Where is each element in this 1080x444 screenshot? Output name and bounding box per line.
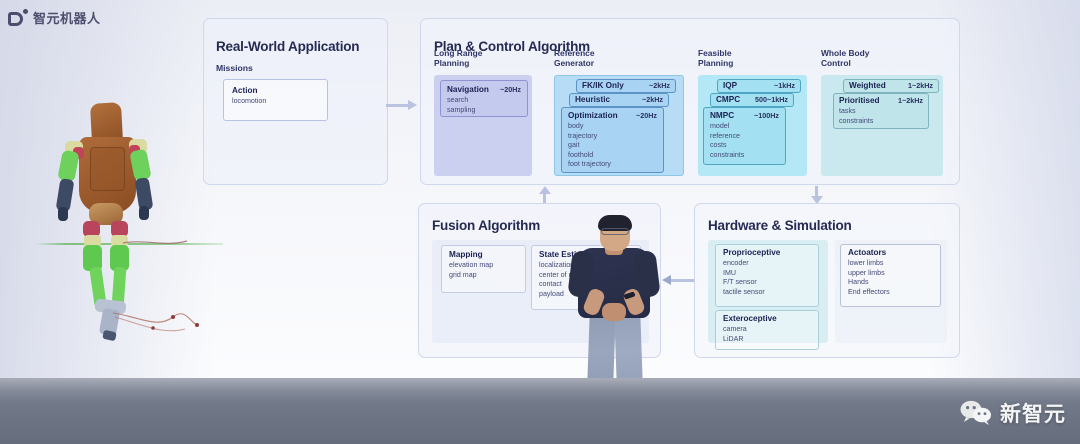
card-prioritised[interactable]: Prioritised 1~2kHz tasks constraints xyxy=(833,93,929,129)
card-title-optimization: Optimization xyxy=(568,111,618,120)
card-items-proprioceptive: encoder IMU F/T sensor tactile sensor xyxy=(723,259,811,297)
card-heuristic[interactable]: Heuristic ~2kHz xyxy=(569,93,669,107)
card-title-cmpc: CMPC xyxy=(716,95,740,104)
card-items-optimization: body trajectory gait foothold foot traje… xyxy=(568,122,657,170)
card-title-actoators: Actoators xyxy=(848,248,886,257)
card-exteroceptive[interactable]: Exteroceptive camera LiDAR xyxy=(715,310,819,350)
panel-real-world-application: Real-World Application Missions Action l… xyxy=(203,18,388,185)
card-weighted[interactable]: Weighted 1~2kHz xyxy=(843,79,939,93)
panel-plan-control-algorithm: Plan & Control Algorithm Long Range Plan… xyxy=(420,18,960,185)
card-freq-heuristic: ~2kHz xyxy=(642,95,663,104)
panel-title-real-world-application: Real-World Application xyxy=(216,39,359,54)
card-freq-iqp: ~1kHz xyxy=(774,81,795,90)
card-title-weighted: Weighted xyxy=(849,81,886,90)
card-items-mapping: elevation map grid map xyxy=(449,261,518,280)
column-title-feasible-planning: Feasible Planning xyxy=(698,49,733,69)
card-title-exteroceptive: Exteroceptive xyxy=(723,314,777,323)
card-title-proprioceptive: Proprioceptive xyxy=(723,248,780,257)
card-title-heuristic: Heuristic xyxy=(575,95,610,104)
card-navigation[interactable]: Navigation ~20Hz search sampling xyxy=(440,80,528,117)
robot-simulation-figure xyxy=(45,95,215,345)
card-action[interactable]: Action locomotion xyxy=(223,79,328,121)
brand-name: 智元机器人 xyxy=(33,8,101,27)
card-items-navigation: search sampling xyxy=(447,96,521,115)
agibot-logo-icon xyxy=(8,9,27,26)
card-cmpc[interactable]: CMPC 500~1kHz xyxy=(710,93,794,107)
card-items-prioritised: tasks constraints xyxy=(839,107,923,126)
card-freq-nmpc: ~100Hz xyxy=(754,111,779,120)
column-title-reference-generator: Reference Generator xyxy=(554,49,595,69)
wechat-icon xyxy=(959,400,993,426)
card-actoators[interactable]: Actoators lower limbs upper limbs Hands … xyxy=(840,244,941,307)
arrow-plan-to-hardware xyxy=(811,186,823,204)
card-fk-ik-only[interactable]: FK/IK Only ~2kHz xyxy=(576,79,676,93)
card-items-exteroceptive: camera LiDAR xyxy=(723,325,811,344)
column-title-long-range-planning: Long Range Planning xyxy=(434,49,482,69)
panel-title-fusion-algorithm: Fusion Algorithm xyxy=(432,218,540,233)
stage-floor-sheen xyxy=(0,378,1080,402)
screenshot-stage: 智元机器人 xyxy=(0,0,1080,444)
column-title-whole-body-control: Whole Body Control xyxy=(821,49,869,69)
card-freq-optimization: ~20Hz xyxy=(636,111,657,120)
card-title-mapping: Mapping xyxy=(449,250,483,259)
arrow-rwa-to-plan xyxy=(386,100,420,110)
card-title-action: Action xyxy=(232,86,257,95)
card-freq-prioritised: 1~2kHz xyxy=(898,96,923,105)
panel-title-hardware-simulation: Hardware & Simulation xyxy=(708,218,852,233)
card-freq-cmpc: 500~1kHz xyxy=(755,95,788,104)
watermark: 新智元 xyxy=(959,398,1066,428)
card-title-iqp: IQP xyxy=(723,81,737,90)
presenter-hands xyxy=(602,303,626,321)
card-nmpc[interactable]: NMPC ~100Hz model reference costs constr… xyxy=(703,107,786,165)
card-title-nmpc: NMPC xyxy=(710,111,734,120)
panel-hardware-simulation: Hardware & Simulation Proprioceptive enc… xyxy=(694,203,960,358)
card-freq-weighted: 1~2kHz xyxy=(908,81,933,90)
robot-chest-plate xyxy=(90,147,125,191)
card-freq-fk-ik-only: ~2kHz xyxy=(649,81,670,90)
card-items-action: locomotion xyxy=(232,97,319,107)
watermark-text: 新智元 xyxy=(1000,398,1066,428)
card-iqp[interactable]: IQP ~1kHz xyxy=(717,79,801,93)
card-title-fk-ik-only: FK/IK Only xyxy=(582,81,624,90)
card-proprioceptive[interactable]: Proprioceptive encoder IMU F/T sensor ta… xyxy=(715,244,819,307)
robot-trajectory-traces xyxy=(45,195,215,345)
card-mapping[interactable]: Mapping elevation map grid map xyxy=(441,245,526,293)
card-title-prioritised: Prioritised xyxy=(839,96,880,105)
card-items-nmpc: model reference costs constraints xyxy=(710,122,779,160)
card-freq-navigation: ~20Hz xyxy=(500,85,521,94)
missions-label: Missions xyxy=(216,63,253,73)
arrow-fusion-to-plan xyxy=(539,186,551,204)
robot-upper-arm-left xyxy=(57,150,79,183)
card-items-actoators: lower limbs upper limbs Hands End effect… xyxy=(848,259,933,297)
brand-logo: 智元机器人 xyxy=(8,8,101,27)
presenter-glasses xyxy=(601,228,629,235)
card-title-navigation: Navigation xyxy=(447,85,489,94)
card-optimization[interactable]: Optimization ~20Hz body trajectory gait … xyxy=(561,107,664,173)
